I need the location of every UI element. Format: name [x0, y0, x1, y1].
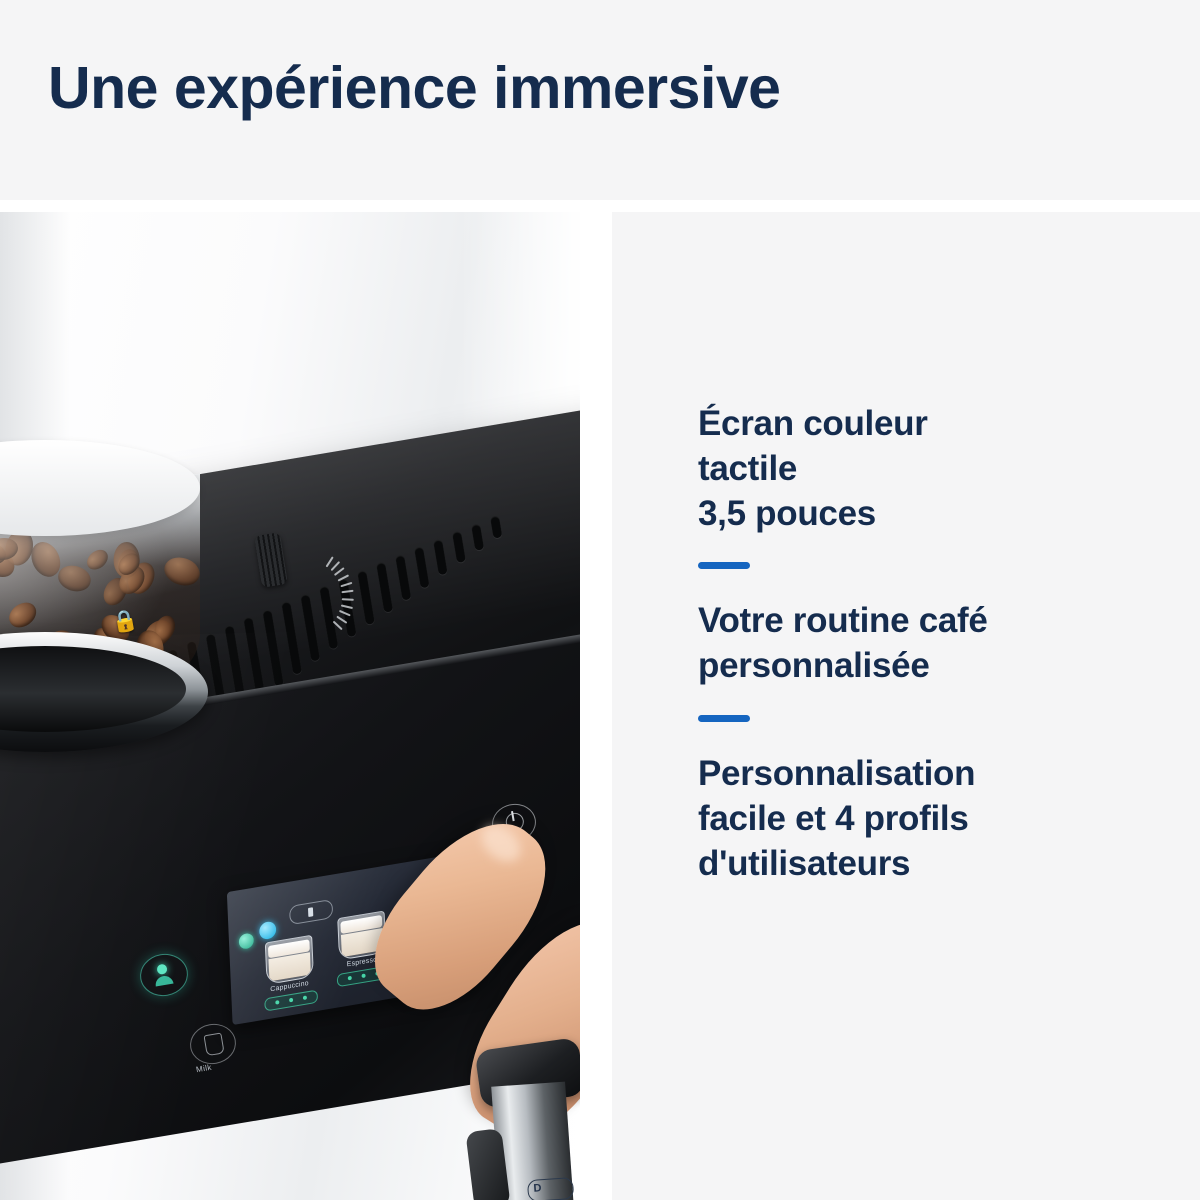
dial-tick [332, 621, 342, 631]
vent-slot [471, 523, 484, 551]
badge-oval: D [527, 1177, 574, 1200]
feature-display: Écran couleur tactile 3,5 pouces [698, 402, 1158, 536]
feature-profiles: Personnalisation facile et 4 profils d'u… [698, 752, 1158, 886]
badge-letter: D [533, 1182, 542, 1195]
vent-slot [376, 562, 393, 612]
feature-routine-text: Votre routine café personnalisée [698, 599, 1158, 689]
feature-routine: Votre routine café personnalisée [698, 599, 1158, 689]
dial-tick [338, 574, 350, 581]
product-photo: 🔒 CappuccinoEspressoMacchiato Milk D [0, 212, 580, 1200]
page-title: Une expérience immersive [48, 58, 780, 120]
header-band: Une expérience immersive [0, 0, 1200, 200]
dial-tick [340, 582, 352, 587]
feature-list: Écran couleur tactile 3,5 pouces Votre r… [698, 402, 1158, 886]
machine-brand-badge: D R [527, 1176, 580, 1200]
dial-tick [336, 616, 347, 624]
hopper-chrome-inner [0, 646, 186, 732]
feature-divider-2 [698, 715, 750, 722]
vent-slot [433, 539, 448, 576]
vent-slot [490, 515, 503, 538]
vent-slot [452, 531, 466, 563]
product-photo-panel: 🔒 CappuccinoEspressoMacchiato Milk D [0, 212, 580, 1200]
dial-tick [339, 610, 351, 617]
lock-icon: 🔒 [110, 608, 140, 636]
dial-tick [342, 598, 354, 601]
dial-tick [334, 567, 345, 576]
vent-slot [414, 547, 430, 588]
feature-profiles-text: Personnalisation facile et 4 profils d'u… [698, 752, 1158, 886]
dial-tick [341, 590, 353, 593]
dial-tick [341, 604, 353, 609]
dial-tick [325, 556, 333, 567]
vent-slot [357, 570, 375, 625]
feature-display-text: Écran couleur tactile 3,5 pouces [698, 402, 1158, 536]
vent-slot [395, 554, 411, 600]
feature-panel: Écran couleur tactile 3,5 pouces Votre r… [612, 212, 1200, 1200]
feature-divider-1 [698, 562, 750, 569]
